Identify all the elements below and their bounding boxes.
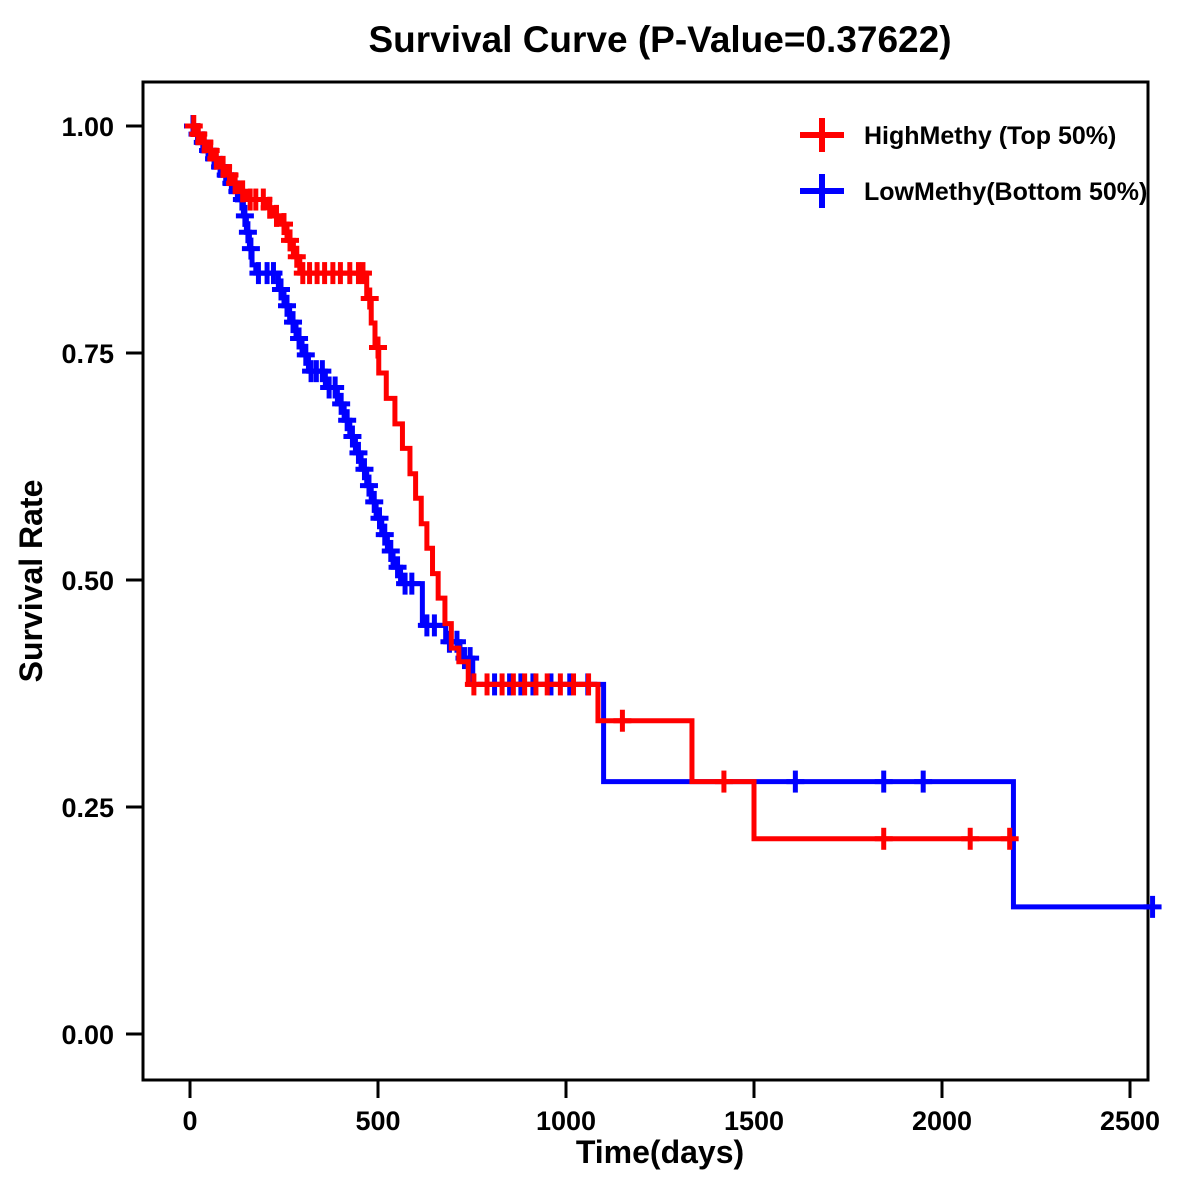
y-tick-label: 1.00 bbox=[61, 112, 114, 142]
x-tick-label: 1000 bbox=[536, 1106, 596, 1136]
legend-label: HighMethy (Top 50%) bbox=[864, 122, 1116, 150]
y-tick-label: 0.50 bbox=[61, 566, 114, 596]
survival-curve-chart: Survival Curve (P-Value=0.37622) 0.000.2… bbox=[0, 0, 1200, 1200]
page-title: Survival Curve (P-Value=0.37622) bbox=[368, 19, 951, 60]
x-tick-label: 0 bbox=[182, 1106, 197, 1136]
x-tick-label: 2000 bbox=[912, 1106, 972, 1136]
x-axis-title: Time(days) bbox=[576, 1134, 744, 1170]
legend-label: LowMethy(Bottom 50%) bbox=[864, 178, 1147, 206]
y-tick-label: 0.00 bbox=[61, 1020, 114, 1050]
chart-canvas: Survival Curve (P-Value=0.37622) 0.000.2… bbox=[0, 0, 1200, 1200]
y-axis-title: Survival Rate bbox=[13, 480, 49, 683]
x-tick-label: 500 bbox=[355, 1106, 400, 1136]
x-tick-label: 2500 bbox=[1100, 1106, 1160, 1136]
y-tick-label: 0.75 bbox=[61, 339, 114, 369]
y-tick-label: 0.25 bbox=[61, 793, 114, 823]
x-tick-label: 1500 bbox=[724, 1106, 784, 1136]
